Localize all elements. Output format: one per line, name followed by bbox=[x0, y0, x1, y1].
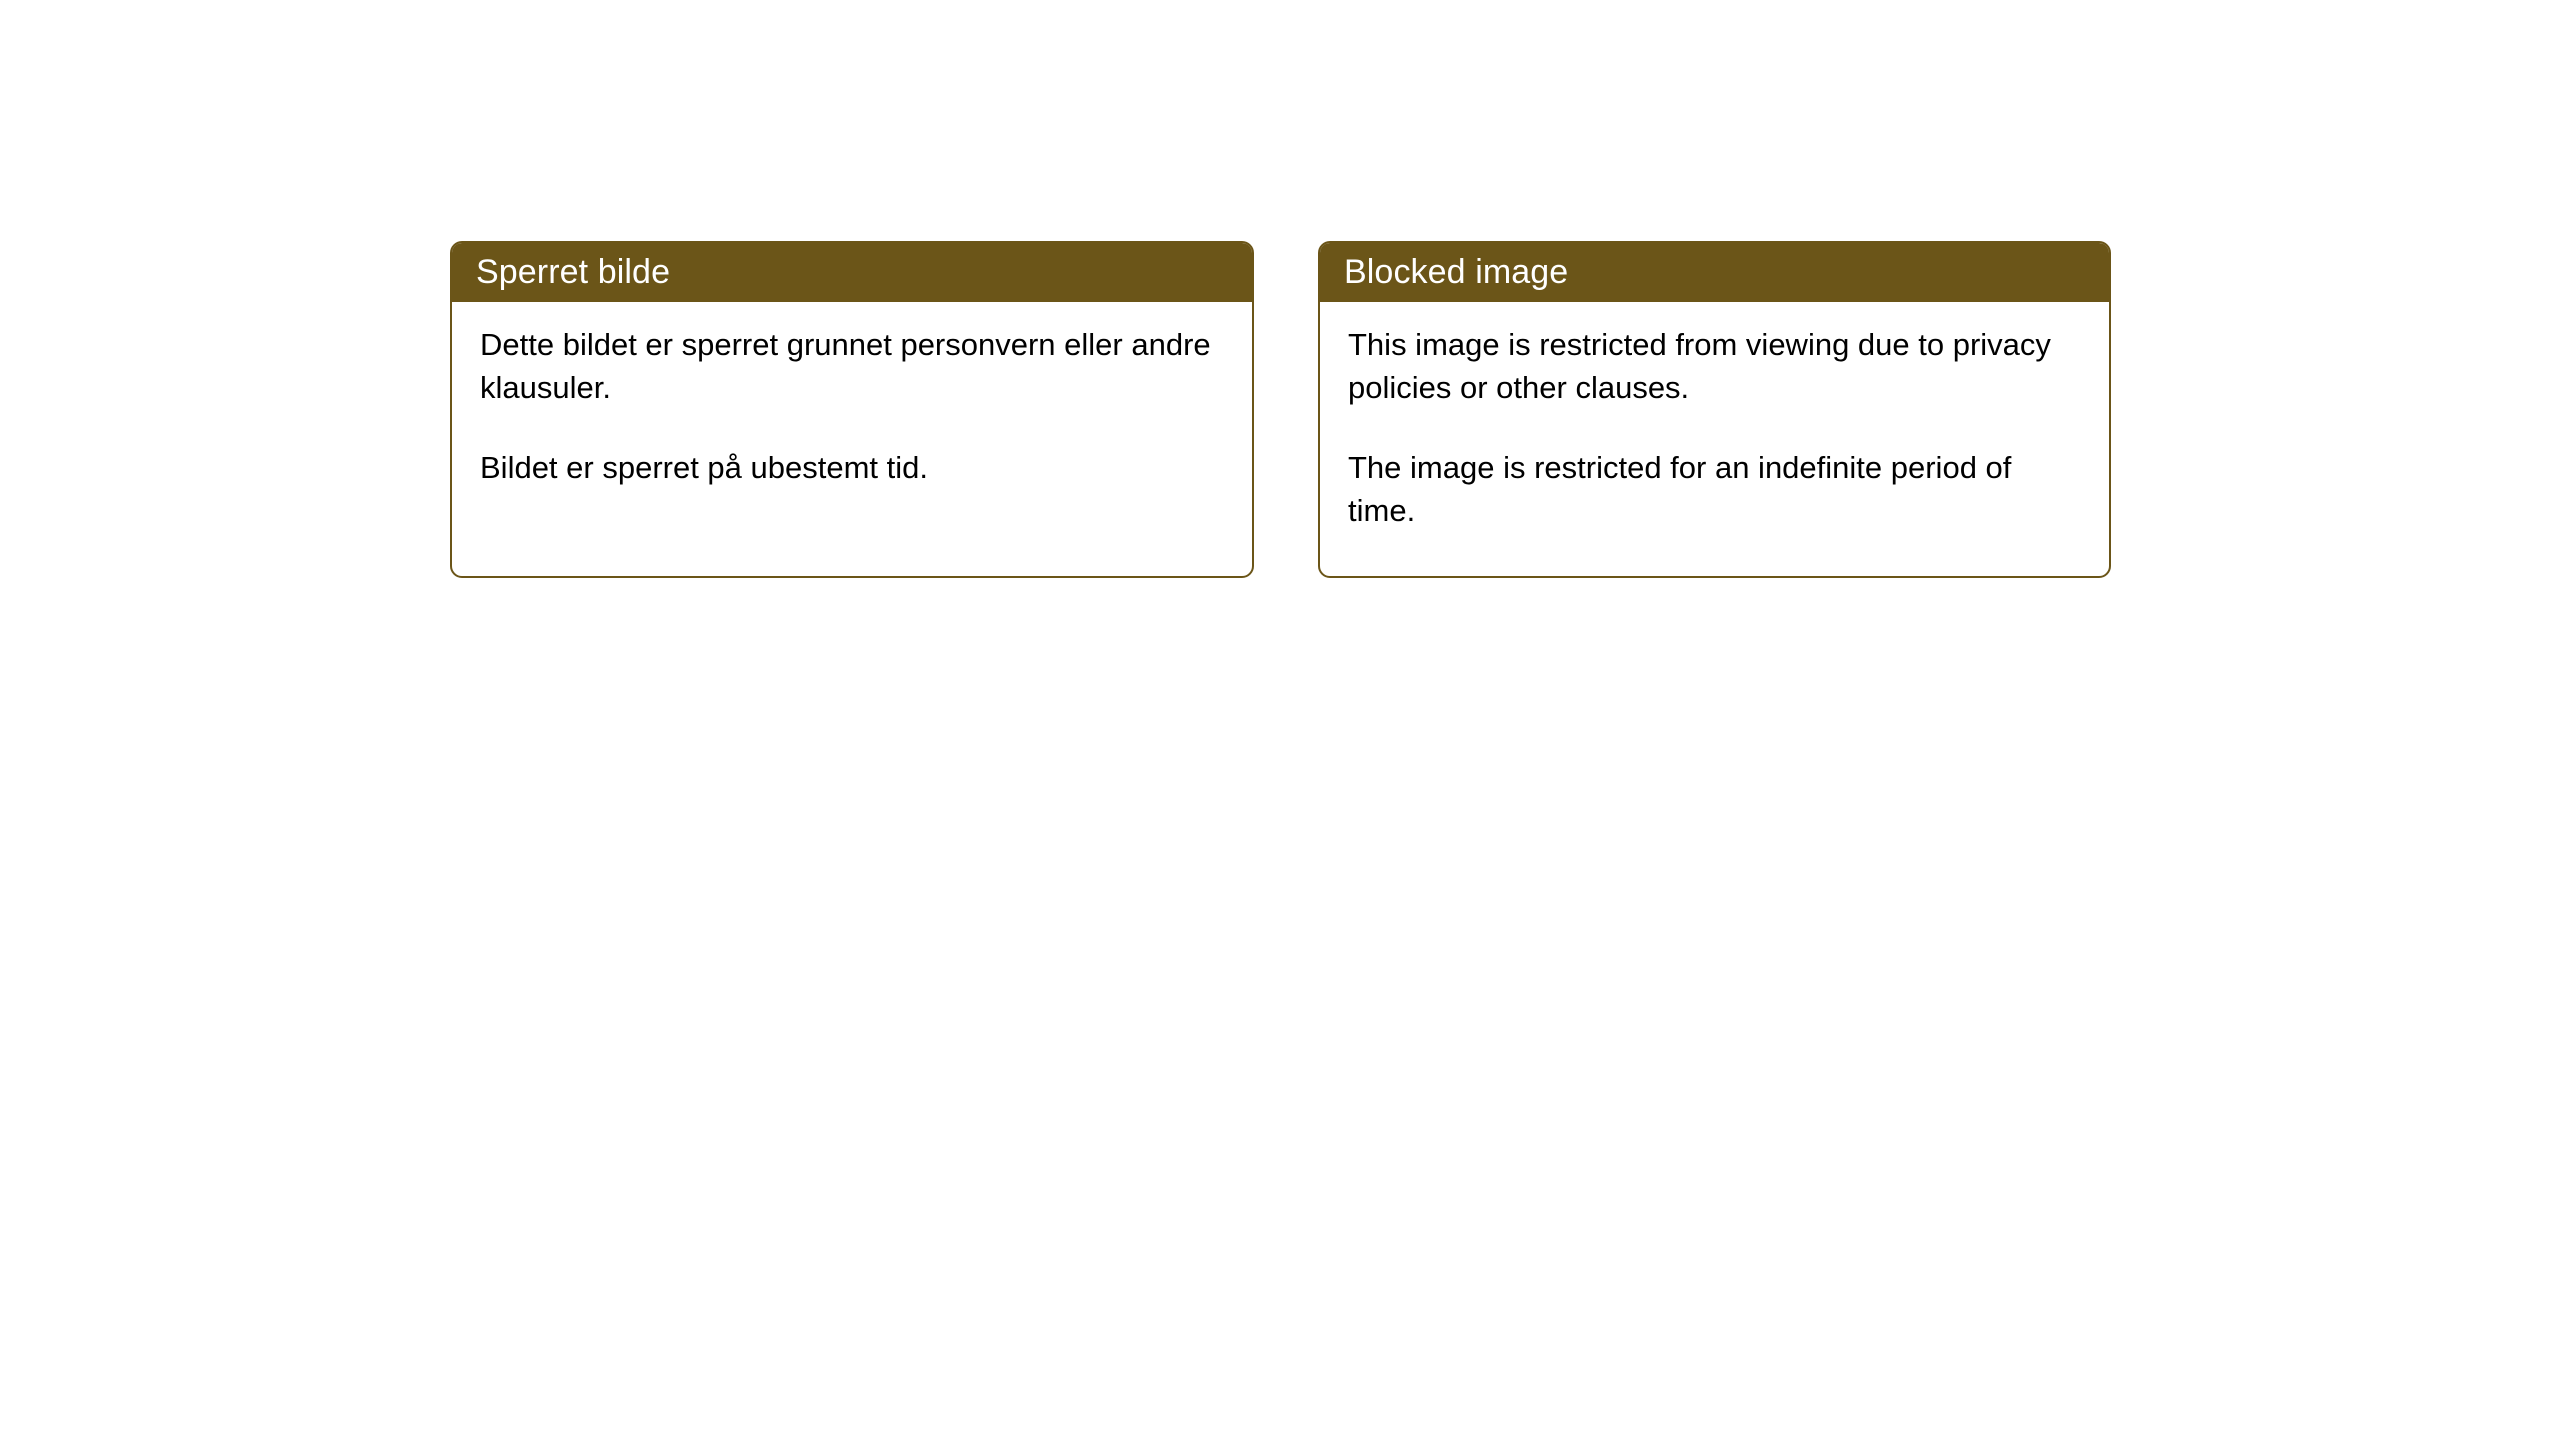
card-body-norwegian: Dette bildet er sperret grunnet personve… bbox=[452, 302, 1252, 489]
blocked-image-card-english: Blocked image This image is restricted f… bbox=[1318, 241, 2111, 578]
card-paragraph-norwegian-1: Dette bildet er sperret grunnet personve… bbox=[480, 323, 1226, 409]
card-header-norwegian: Sperret bilde bbox=[450, 241, 1254, 302]
card-header-english: Blocked image bbox=[1318, 241, 2111, 302]
card-paragraph-english-2: The image is restricted for an indefinit… bbox=[1348, 446, 2083, 532]
notice-stage: Sperret bilde Dette bildet er sperret gr… bbox=[0, 0, 2560, 1440]
card-title-english: Blocked image bbox=[1344, 255, 1568, 289]
blocked-image-card-norwegian: Sperret bilde Dette bildet er sperret gr… bbox=[450, 241, 1254, 578]
card-body-english: This image is restricted from viewing du… bbox=[1320, 302, 2109, 532]
card-paragraph-norwegian-2: Bildet er sperret på ubestemt tid. bbox=[480, 446, 1226, 489]
card-paragraph-english-1: This image is restricted from viewing du… bbox=[1348, 323, 2083, 409]
card-title-norwegian: Sperret bilde bbox=[476, 255, 670, 289]
